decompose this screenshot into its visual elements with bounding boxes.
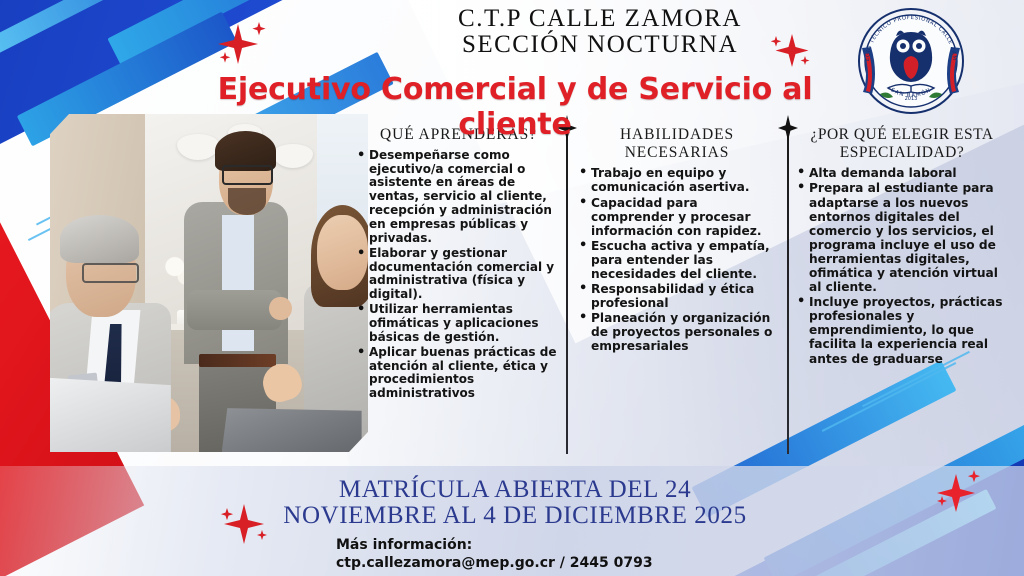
page-title: Ejecutivo Comercial y de Servicio al cli… [170, 72, 860, 142]
list-item: Trabajo en equipo y comunicación asertiv… [578, 166, 776, 194]
business-meeting-photo [50, 114, 368, 452]
enrollment-line2: NOVIEMBRE AL 4 DE DICIEMBRE 2025 [245, 503, 785, 529]
list-item: Aplicar buenas prácticas de atención al … [356, 346, 561, 401]
list-item: Alta demanda laboral [796, 166, 1008, 180]
contact-info: Más información: ctp.callezamora@mep.go.… [336, 536, 806, 572]
sparkle-icon [930, 462, 988, 520]
list-item: Incluye proyectos, prácticas profesional… [796, 295, 1008, 365]
list-item: Responsabilidad y ética profesional [578, 282, 776, 310]
photo-person-standing-arms [187, 290, 282, 331]
footer: MATRÍCULA ABIERTA DEL 24 NOVIEMBRE AL 4 … [0, 466, 1024, 576]
sparkle-icon [212, 16, 274, 78]
photo-person-standing-belt [199, 354, 275, 368]
school-logo: 2013 COLEGIO TÉCNICO PROFESIONAL CALLE Z… [856, 6, 966, 116]
list-item: Capacidad para comprender y procesar inf… [578, 196, 776, 238]
photo-person-standing-hand [269, 297, 291, 321]
photo-person-standing-shirt [222, 215, 254, 350]
photo-laptop-left [50, 378, 171, 452]
photo-scene [50, 114, 368, 452]
flyer-canvas: C.T.P CALLE ZAMORA SECCIÓN NOCTURNA Ejec… [0, 0, 1024, 576]
list-item: Prepara al estudiante para adaptarse a l… [796, 181, 1008, 294]
column-habilidades: HABILIDADES NECESARIAS Trabajo en equipo… [578, 126, 776, 355]
photo-person-seated-hair [60, 215, 140, 262]
contact-value[interactable]: ctp.callezamora@mep.go.cr / 2445 0793 [336, 554, 806, 572]
column-list: Alta demanda laboral Prepara al estudian… [796, 166, 1008, 365]
list-item: Planeación y organización de proyectos p… [578, 311, 776, 353]
photo-person-standing-glasses [222, 165, 273, 185]
enrollment-line1: MATRÍCULA ABIERTA DEL 24 [245, 477, 785, 503]
contact-label: Más información: [336, 536, 806, 554]
list-item: Escucha activa y empatía, para entender … [578, 239, 776, 281]
content-columns: QUÉ APRENDERÁS? Desempeñarse como ejecut… [356, 126, 1024, 466]
column-que-aprenderas: QUÉ APRENDERÁS? Desempeñarse como ejecut… [356, 126, 561, 402]
sparkle-icon [762, 26, 814, 78]
column-list: Desempeñarse como ejecutivo/a comercial … [356, 149, 561, 401]
column-por-que-elegir: ¿POR QUÉ ELEGIR ESTA ESPECIALIDAD? Alta … [796, 126, 1008, 367]
photo-laptop-right [222, 408, 362, 452]
list-item: Desempeñarse como ejecutivo/a comercial … [356, 149, 561, 246]
sparkle-icon [214, 494, 274, 554]
list-item: Elaborar y gestionar documentación comer… [356, 247, 561, 302]
photo-person-seated-glasses [82, 263, 139, 283]
column-list: Trabajo en equipo y comunicación asertiv… [578, 166, 776, 353]
enrollment-notice: MATRÍCULA ABIERTA DEL 24 NOVIEMBRE AL 4 … [245, 477, 785, 530]
list-item: Utilizar herramientas ofimáticas y aplic… [356, 303, 561, 345]
